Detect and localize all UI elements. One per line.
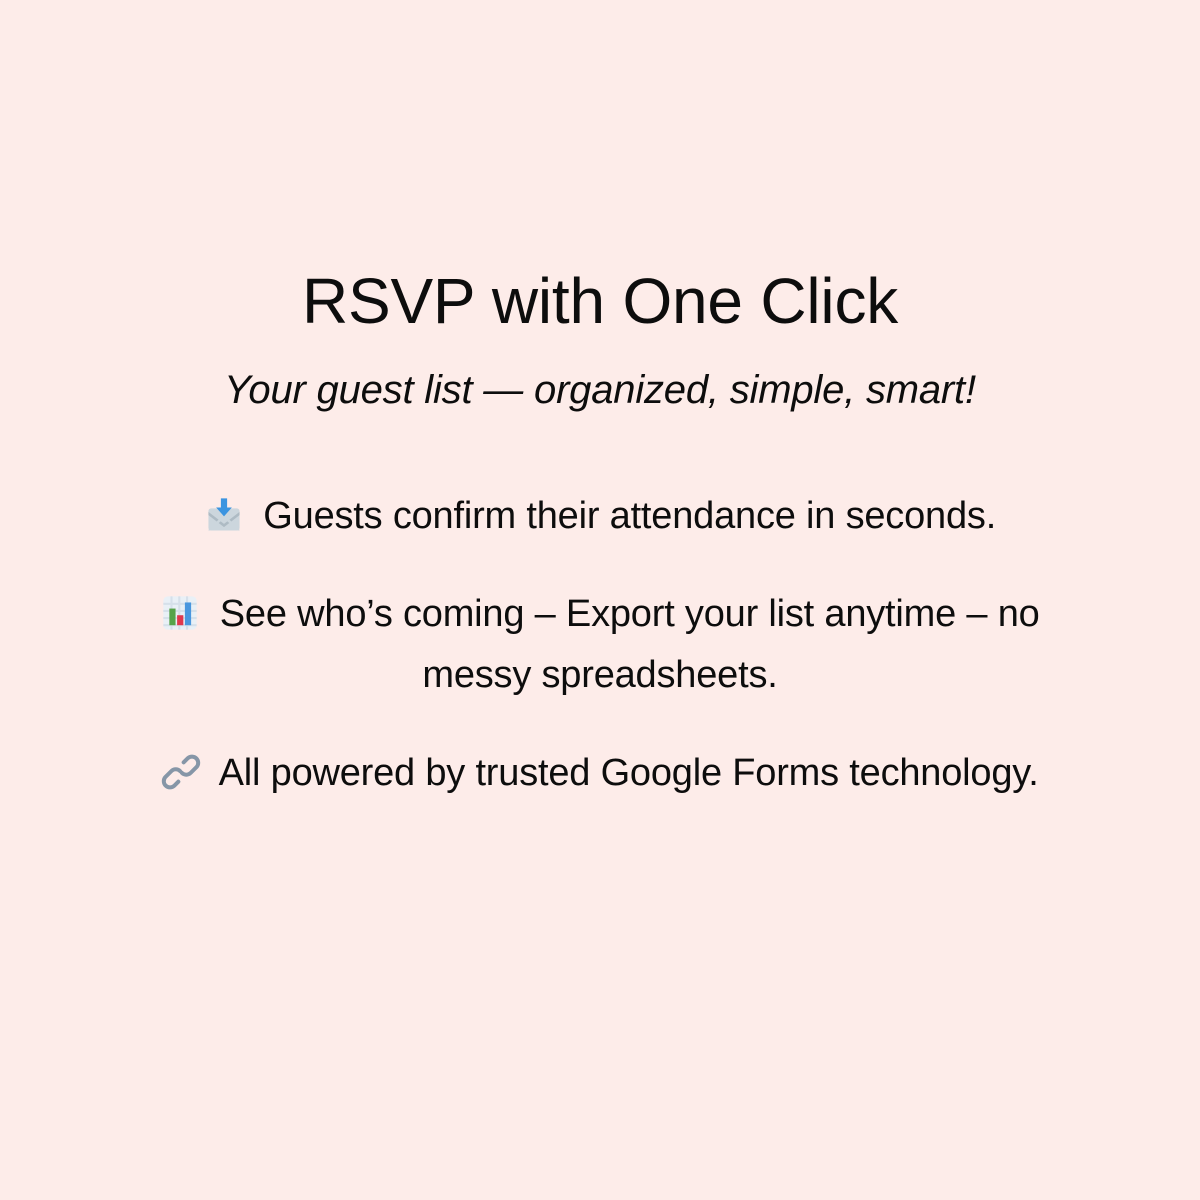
list-item: See who’s coming – Export your list anyt… [130, 548, 1070, 707]
bar-chart-icon [160, 593, 200, 633]
list-item: All powered by trusted Google Forms tech… [161, 707, 1038, 805]
page-title: RSVP with One Click [302, 268, 898, 335]
list-item: Guests confirm their attendance in secon… [204, 414, 996, 548]
promo-poster: RSVP with One Click Your guest list — or… [0, 0, 1200, 1200]
list-item-label: Guests confirm their attendance in secon… [263, 495, 996, 537]
list-item-label: All powered by trusted Google Forms tech… [219, 752, 1039, 794]
page-subtitle: Your guest list — organized, simple, sma… [224, 335, 976, 414]
link-icon [161, 752, 201, 792]
list-item-label: See who’s coming – Export your list anyt… [220, 593, 1040, 697]
incoming-envelope-icon [204, 495, 244, 535]
feature-list: Guests confirm their attendance in secon… [110, 414, 1090, 804]
